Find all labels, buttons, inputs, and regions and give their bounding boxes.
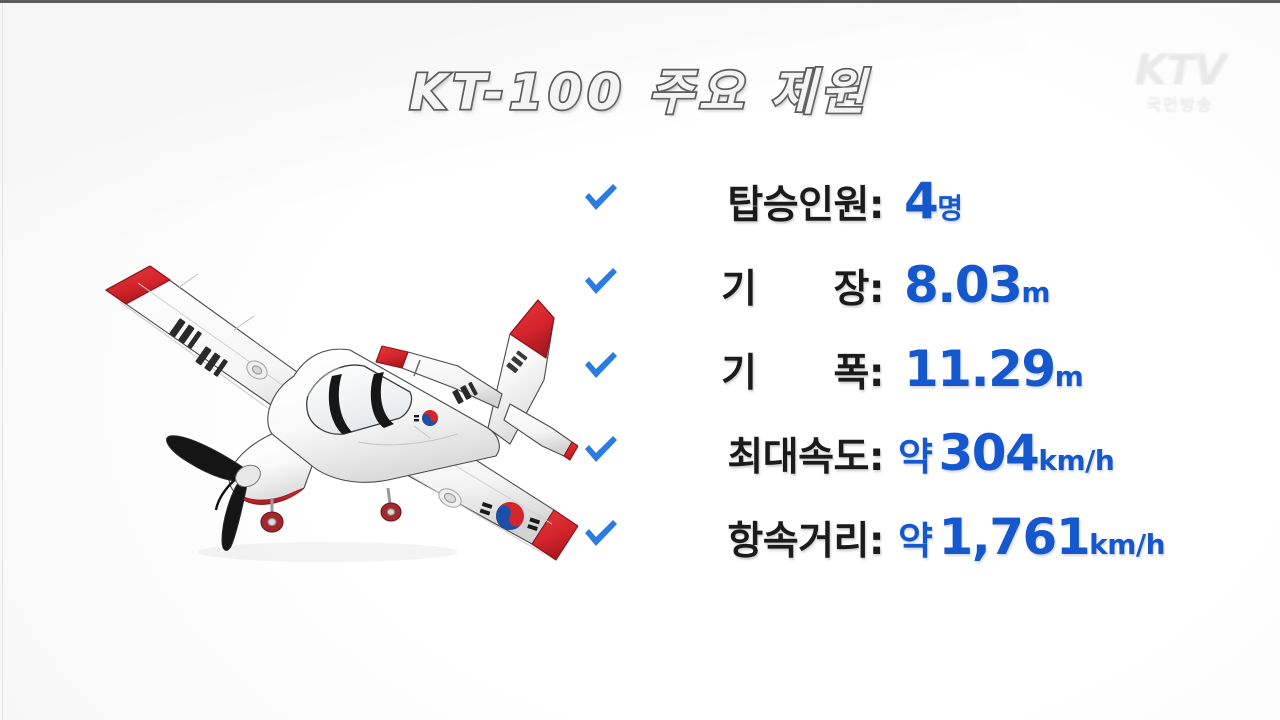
spec-unit-range: km/h (1089, 528, 1165, 561)
spec-list: 탑승인원: 4명 기 장: 8.03m 기 폭: 11.29m (582, 172, 1242, 592)
page-title: KT-100 주요 제원 (0, 53, 1280, 124)
ktv-channel-logo: KTV 국민방송 (1110, 48, 1250, 122)
spec-number-range: 1,761 (938, 508, 1089, 566)
ktv-logo-text: KTV (1110, 48, 1250, 90)
check-icon (582, 432, 628, 466)
spec-label-passengers: 탑승인원: (628, 174, 884, 230)
spec-row-max-speed: 최대속도: 약304km/h (582, 424, 1242, 508)
spec-label-wingspan: 기 폭: (628, 342, 884, 398)
spec-number-passengers: 4 (904, 172, 937, 230)
spec-value-max-speed: 약304km/h (898, 424, 1114, 482)
ktv-logo-subtitle: 국민방송 (1110, 90, 1250, 114)
spec-row-wingspan: 기 폭: 11.29m (582, 340, 1242, 424)
spec-unit-max-speed: km/h (1038, 444, 1114, 477)
spec-number-length: 8.03 (904, 256, 1021, 314)
check-icon (582, 516, 628, 550)
spec-row-range: 항속거리: 약1,761km/h (582, 508, 1242, 592)
spec-value-length: 8.03m (898, 256, 1050, 314)
top-edge-border (0, 0, 1280, 3)
spec-label-max-speed: 최대속도: (628, 426, 884, 482)
spec-value-range: 약1,761km/h (898, 508, 1165, 566)
spec-approx-range: 약 (898, 519, 932, 563)
check-icon (582, 348, 628, 382)
spec-label-length: 기 장: (628, 258, 884, 314)
spec-label-range: 항속거리: (628, 510, 884, 566)
check-icon (582, 264, 628, 298)
spec-approx-max-speed: 약 (898, 435, 932, 479)
check-icon (582, 180, 628, 214)
spec-row-length: 기 장: 8.03m (582, 256, 1242, 340)
spec-number-max-speed: 304 (938, 424, 1038, 482)
kt-100-aircraft-illustration (58, 180, 578, 580)
spec-value-passengers: 4명 (898, 172, 963, 230)
spec-row-passengers: 탑승인원: 4명 (582, 172, 1242, 256)
spec-unit-length: m (1021, 276, 1050, 309)
spec-unit-wingspan: m (1055, 360, 1084, 393)
spec-unit-passengers: 명 (937, 192, 962, 225)
broadcast-graphic-screen: KT-100 주요 제원 KTV 국민방송 탑승인원: 4명 기 장: 8.03… (0, 0, 1280, 720)
spec-number-wingspan: 11.29 (904, 340, 1055, 398)
spec-value-wingspan: 11.29m (898, 340, 1083, 398)
